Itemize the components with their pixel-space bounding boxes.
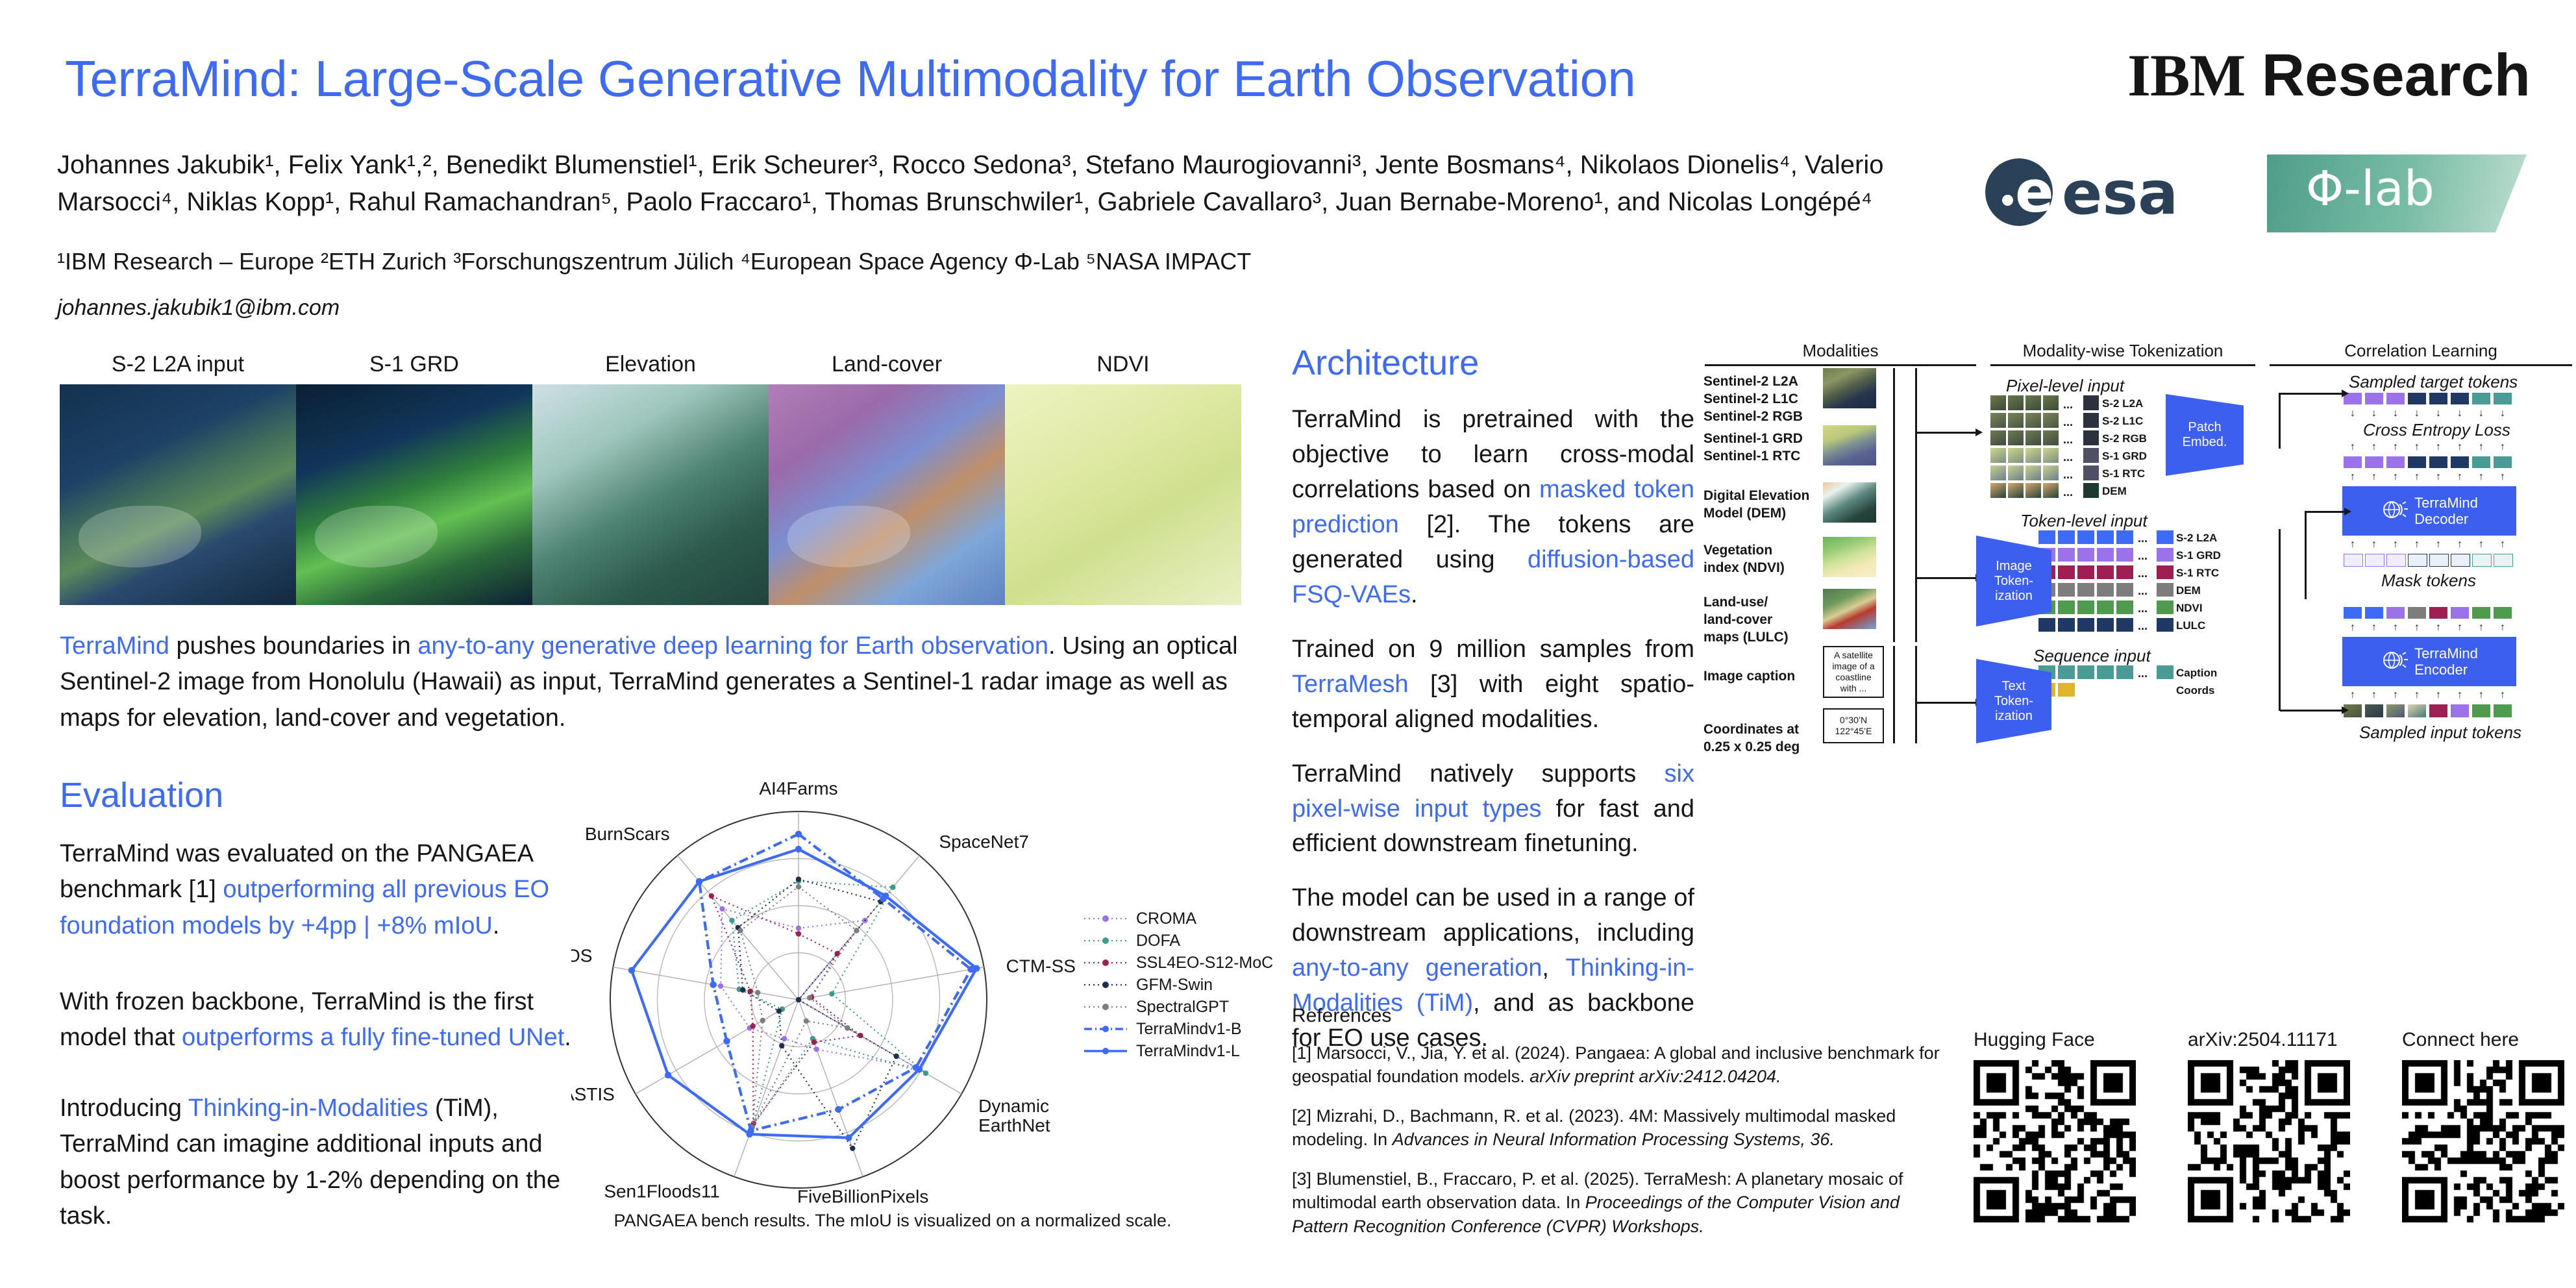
- svg-text:SpectralGPT: SpectralGPT: [1136, 998, 1229, 1016]
- mask-up-arrow-0: ↑: [2350, 539, 2355, 550]
- token-row-label-1: S-1 GRD: [2176, 549, 2221, 562]
- token-cell-1-3: [2097, 548, 2114, 562]
- pixel-patch-3-0: [1990, 448, 2006, 463]
- target-down-arrow-5: ↓: [2457, 408, 2462, 419]
- connector-bar-target: [2279, 393, 2281, 449]
- pixel-patch-final-1: [2083, 413, 2099, 428]
- target-down-arrow-6: ↓: [2479, 408, 2484, 419]
- modality-preview-image-2: [532, 384, 769, 605]
- target-down-arrow-2: ↓: [2393, 408, 2398, 419]
- predicted-token-5: [2451, 456, 2469, 468]
- caption-text-2: pushes boundaries in: [169, 632, 417, 660]
- pixel-patch-final-5: [2083, 483, 2099, 498]
- sampled-target-token-7: [2494, 393, 2512, 404]
- decoder-out-arrow-5: ↑: [2457, 472, 2462, 482]
- pixel-patch-1-1: [2008, 413, 2024, 428]
- arrow-to-image-tokenization: [1916, 577, 1976, 579]
- modality-label-5: Image caption: [1703, 668, 1814, 686]
- sequence-input-label: Sequence input: [2033, 646, 2151, 666]
- arch-p4-accent: any-to-any generation: [1292, 954, 1542, 982]
- predicted-token-0: [2344, 456, 2362, 468]
- modality-preview-image-4: [1005, 384, 1241, 605]
- predicted-token-3: [2408, 456, 2426, 468]
- sampled-input-tokens-label: Sampled input tokens: [2359, 723, 2521, 743]
- diagram-column-rule-2: [2270, 364, 2572, 366]
- radar-svg: AI4FarmsSpaceNet7CTM-SSDynamicEarthNetFi…: [571, 740, 1272, 1259]
- modality-label-0: Sentinel-2 L2A Sentinel-2 L1C Sentinel-2…: [1703, 373, 1814, 426]
- token-row-label-2: S-1 RTC: [2176, 567, 2219, 580]
- pixel-patch-4-3: [2043, 465, 2059, 480]
- ce-up-arrow-1: ↑: [2372, 442, 2377, 452]
- pixel-patch-5-3: [2043, 483, 2059, 498]
- pixel-row-label-1: S-2 L1C: [2102, 415, 2143, 428]
- eval-p3-accent: Thinking-in-Modalities: [188, 1095, 428, 1122]
- mask-up-arrow-5: ↑: [2457, 539, 2462, 550]
- mask-up-arrow-3: ↑: [2414, 539, 2420, 550]
- encoder-out-arrow-2: ↑: [2393, 623, 2398, 633]
- encoder-out-arrow-5: ↑: [2457, 623, 2462, 633]
- decoder-out-arrow-3: ↑: [2414, 472, 2420, 482]
- mask-token-1: [2365, 554, 2384, 567]
- decoder-out-arrow-0: ↑: [2350, 472, 2355, 482]
- branch-bar-seq: [1915, 646, 1917, 743]
- svg-text:MADOS: MADOS: [571, 946, 592, 966]
- qr-canvas: [1974, 1060, 2136, 1222]
- encoder-out-arrow-1: ↑: [2372, 623, 2377, 633]
- pixel-row-ellipsis-2: ...: [2063, 433, 2073, 447]
- sequence-cell-0-4: [2116, 665, 2133, 679]
- ce-up-arrow-4: ↑: [2436, 442, 2441, 452]
- decoder-out-arrow-7: ↑: [2500, 472, 2505, 482]
- ce-up-arrow-3: ↑: [2414, 442, 2420, 452]
- svg-text:SSL4EO-S12-MoCo: SSL4EO-S12-MoCo: [1136, 954, 1272, 972]
- mask-token-2: [2386, 554, 2406, 567]
- pixel-patch-3-1: [2008, 448, 2024, 463]
- arrow-head-icon: [1975, 428, 1983, 436]
- pixel-patch-3-2: [2025, 448, 2041, 463]
- token-row-label-4: NDVI: [2176, 602, 2203, 615]
- token-cell-1-2: [2077, 548, 2094, 562]
- svg-text:EarthNet: EarthNet: [978, 1115, 1050, 1135]
- sampled-target-token-2: [2386, 393, 2405, 404]
- pixel-patch-1-3: [2043, 413, 2059, 428]
- mask-tokens-label: Mask tokens: [2381, 571, 2476, 591]
- strip-label-3: Land-cover: [769, 352, 1005, 377]
- ref2-italic: Advances in Neural Information Processin…: [1393, 1130, 1835, 1149]
- encoder-output-token-6: [2472, 607, 2490, 619]
- preview-detail: [787, 506, 910, 567]
- encoder-in-arrow-5: ↑: [2457, 690, 2462, 700]
- pixel-patch-3-3: [2043, 448, 2059, 463]
- author-line-1: Johannes Jakubik¹, Felix Yank¹,², Benedi…: [57, 147, 1920, 184]
- architecture-diagram: ModalitiesModality-wise TokenizationCorr…: [1701, 341, 2576, 867]
- arch-p2-a: Trained on 9 million samples from: [1292, 636, 1694, 663]
- reference-item-2: [2] Mizrahi, D., Bachmann, R. et al. (20…: [1292, 1104, 1954, 1152]
- sampled-input-token-7: [2494, 704, 2512, 717]
- page-title: TerraMind: Large-Scale Generative Multim…: [65, 53, 1922, 104]
- token-cell-final-5: [2157, 618, 2173, 632]
- pixel-row-label-0: S-2 L2A: [2102, 397, 2143, 410]
- diagram-column-header-2: Correlation Learning: [2266, 341, 2576, 361]
- modality-thumbnail-0: [1823, 368, 1876, 408]
- qr-code-row: Hugging FacearXiv:2504.11171Connect here: [1974, 1029, 2576, 1250]
- modality-preview-image-1: [296, 384, 532, 605]
- svg-text:FiveBillionPixels: FiveBillionPixels: [797, 1187, 928, 1207]
- modality-thumbnail-3: [1823, 537, 1876, 577]
- architecture-body: TerraMind is pretrained with the objecti…: [1292, 402, 1694, 1076]
- sampled-target-token-4: [2429, 393, 2447, 404]
- token-cell-3-1: [2058, 583, 2075, 597]
- pixel-patch-2-1: [2008, 430, 2024, 445]
- caption-accent-1: TerraMind: [60, 632, 169, 660]
- modality-label-6: Coordinates at 0.25 x 0.25 deg: [1703, 721, 1818, 756]
- encoder-in-arrow-7: ↑: [2500, 690, 2505, 700]
- token-cell-2-2: [2077, 565, 2094, 579]
- token-row-ellipsis-3: ...: [2138, 584, 2148, 598]
- token-cell-3-4: [2116, 583, 2133, 597]
- ibm-wordmark: IBM: [2127, 42, 2245, 108]
- arrow-to-pixel-level: [1916, 432, 1976, 434]
- esa-e-letter: e: [2015, 166, 2054, 219]
- sampled-input-token-6: [2472, 704, 2490, 717]
- preview-detail: [79, 506, 201, 567]
- encoder-out-arrow-7: ↑: [2500, 623, 2505, 633]
- arrow-to-text-tokenization: [1916, 702, 1976, 704]
- encoder-output-token-0: [2344, 607, 2362, 619]
- eval-p2-accent: outperforms a fully fine-tuned UNet: [182, 1024, 564, 1051]
- arch-paragraph-3: TerraMind natively supports six pixel-wi…: [1292, 757, 1694, 862]
- token-cell-5-0: [2038, 618, 2055, 632]
- evaluation-paragraph-1: TerraMind was evaluated on the PANGAEA b…: [60, 836, 573, 944]
- diagram-column-rule-0: [1705, 364, 1976, 366]
- pixel-patch-final-4: [2083, 465, 2099, 480]
- arrow-head-icon: [2342, 706, 2349, 714]
- encoder-in-arrow-1: ↑: [2372, 690, 2377, 700]
- pixel-patch-0-2: [2025, 395, 2041, 410]
- branch-bar-pixel: [1915, 368, 1917, 517]
- predicted-token-1: [2365, 456, 2383, 468]
- svg-text:GFM-Swin: GFM-Swin: [1136, 976, 1213, 994]
- svg-text:DOFA: DOFA: [1136, 932, 1180, 950]
- architecture-heading: Architecture: [1292, 343, 1479, 383]
- mask-token-7: [2494, 554, 2513, 567]
- philab-wordmark: Φ-lab: [2306, 165, 2434, 213]
- radar-chart-caption: PANGAEA bench results. The mIoU is visua…: [584, 1211, 1201, 1231]
- diagram-column-header-1: Modality-wise Tokenization: [1987, 341, 2259, 361]
- ce-up-arrow-7: ↑: [2500, 442, 2505, 452]
- svg-text:CROMA: CROMA: [1136, 910, 1196, 928]
- predicted-token-4: [2429, 456, 2447, 468]
- qr-label-0: Hugging Face: [1974, 1029, 2095, 1051]
- token-row-ellipsis-1: ...: [2138, 549, 2148, 563]
- pixel-row-label-5: DEM: [2102, 485, 2127, 498]
- diagram-column-header-0: Modalities: [1701, 341, 1980, 361]
- terramind-encoder-block[interactable]: TerraMindEncoder: [2342, 637, 2516, 686]
- pixel-patch-2-2: [2025, 430, 2041, 445]
- intro-caption: TerraMind pushes boundaries in any-to-an…: [60, 628, 1267, 736]
- modality-preview-image-0: [60, 384, 296, 605]
- brain-globe-icon: [2381, 496, 2408, 526]
- modality-group-bar-image: [1893, 368, 1895, 642]
- coordinates-box: 0°30’N 122°45’E: [1823, 708, 1884, 743]
- sampled-input-token-4: [2429, 704, 2447, 717]
- encoder-out-arrow-6: ↑: [2479, 623, 2484, 633]
- qr-code-2[interactable]: [2402, 1060, 2564, 1222]
- target-down-arrow-4: ↓: [2436, 408, 2441, 419]
- svg-text:TerraMindv1-L: TerraMindv1-L: [1136, 1042, 1240, 1060]
- sequence-row-ellipsis: ...: [2138, 667, 2148, 680]
- mask-token-3: [2408, 554, 2427, 567]
- pixel-row-label-2: S-2 RGB: [2102, 432, 2147, 445]
- affiliations: ¹IBM Research – Europe ²ETH Zurich ³Fors…: [57, 247, 1920, 277]
- references-heading: References: [1292, 1005, 1954, 1027]
- pixel-row-ellipsis-5: ...: [2063, 486, 2073, 499]
- pixel-patch-0-0: [1990, 395, 2006, 410]
- mask-up-arrow-4: ↑: [2436, 539, 2441, 550]
- encoder-in-arrow-6: ↑: [2479, 690, 2484, 700]
- evaluation-heading: Evaluation: [60, 775, 223, 815]
- pixel-patch-final-3: [2083, 448, 2099, 463]
- token-cell-5-2: [2077, 618, 2094, 632]
- pixel-patch-1-0: [1990, 413, 2006, 428]
- cross-entropy-loss-label: Cross Entropy Loss: [2363, 420, 2510, 440]
- sequence-row-label-0: Caption: [2176, 667, 2217, 680]
- svg-text:SpaceNet7: SpaceNet7: [939, 832, 1029, 852]
- token-cell-2-4: [2116, 565, 2133, 579]
- encoder-label: TerraMindEncoder: [2414, 645, 2478, 678]
- patch-embed-block: Patch Embed.: [2166, 394, 2244, 476]
- pixel-patch-2-0: [1990, 430, 2006, 445]
- target-down-arrow-0: ↓: [2350, 408, 2355, 419]
- pixel-patch-4-2: [2025, 465, 2041, 480]
- text-tokenization-block: Text Token- ization: [1976, 659, 2051, 743]
- encoder-in-arrow-2: ↑: [2393, 690, 2398, 700]
- modality-thumbnail-1: [1823, 425, 1876, 465]
- reference-item-3: [3] Blumenstiel, B., Fraccaro, P. et al.…: [1292, 1167, 1954, 1238]
- philab-logo: Φ-lab: [2267, 155, 2527, 232]
- sequence-cell-1-1: [2058, 683, 2075, 697]
- token-cell-4-2: [2077, 601, 2094, 614]
- connector-bar-input: [2279, 529, 2281, 711]
- encoder-output-token-7: [2494, 607, 2512, 619]
- pixel-patch-5-2: [2025, 483, 2041, 498]
- modality-label-3: Vegetation index (NDVI): [1703, 542, 1814, 577]
- encoder-output-token-5: [2451, 607, 2469, 619]
- reference-item-1: [1] Marsocci, V., Jia, Y. et al. (2024).…: [1292, 1041, 1954, 1089]
- token-row-ellipsis-4: ...: [2138, 602, 2148, 615]
- caption-accent-3: any-to-any generative deep learning for …: [417, 632, 1048, 660]
- ibm-research-logo: IBM Research: [2127, 45, 2531, 105]
- sequence-row-label-1: Coords: [2176, 684, 2215, 697]
- research-wordmark: Research: [2262, 42, 2531, 108]
- svg-text:Dynamic: Dynamic: [978, 1096, 1049, 1116]
- token-cell-1-1: [2058, 548, 2075, 562]
- token-row-ellipsis-5: ...: [2138, 619, 2148, 633]
- mask-token-6: [2472, 554, 2492, 567]
- evaluation-paragraph-2: With frozen backbone, TerraMind is the f…: [60, 984, 573, 1056]
- svg-text:PASTIS: PASTIS: [571, 1084, 615, 1104]
- eval-p3-text-a: Introducing: [60, 1095, 188, 1122]
- token-cell-4-3: [2097, 601, 2114, 614]
- sampled-input-token-1: [2365, 704, 2383, 717]
- ref1-italic: arXiv preprint arXiv:2412.04204.: [1529, 1067, 1781, 1086]
- image-caption-box: A satellite image of a coastline with ..…: [1823, 646, 1884, 698]
- pixel-row-label-3: S-1 GRD: [2102, 450, 2147, 463]
- pangaea-radar-chart: AI4FarmsSpaceNet7CTM-SSDynamicEarthNetFi…: [571, 740, 1272, 1259]
- predicted-token-7: [2494, 456, 2512, 468]
- eval-p2-text-b: .: [564, 1024, 571, 1051]
- image-tokenization-block: Image Token- ization: [1976, 536, 2051, 626]
- token-cell-2-1: [2058, 565, 2075, 579]
- arrow-to-sampled-input: [2280, 710, 2342, 712]
- modality-label-2: Digital Elevation Model (DEM): [1703, 488, 1814, 523]
- arrow-head-icon: [2342, 390, 2349, 397]
- esa-dot-shape: [2002, 195, 2013, 206]
- token-cell-5-4: [2116, 618, 2133, 632]
- modality-label-4: Land-use/ land-cover maps (LULC): [1703, 594, 1814, 647]
- token-cell-0-1: [2058, 530, 2075, 544]
- encoder-output-token-1: [2365, 607, 2383, 619]
- modality-thumbnail-2: [1823, 482, 1876, 523]
- token-cell-2-3: [2097, 565, 2114, 579]
- decoder-out-arrow-2: ↑: [2393, 472, 2398, 482]
- mask-token-5: [2451, 554, 2470, 567]
- svg-text:TerraMindv1-B: TerraMindv1-B: [1136, 1020, 1242, 1038]
- mask-token-4: [2429, 554, 2449, 567]
- mask-up-arrow-2: ↑: [2393, 539, 2398, 550]
- pixel-patch-5-0: [1990, 483, 2006, 498]
- qr-canvas: [2402, 1060, 2564, 1222]
- token-cell-0-3: [2097, 530, 2114, 544]
- esa-wordmark: esa: [2062, 164, 2178, 223]
- pixel-row-ellipsis-0: ...: [2063, 398, 2073, 412]
- encoder-out-arrow-3: ↑: [2414, 623, 2420, 633]
- encoder-in-arrow-4: ↑: [2436, 690, 2441, 700]
- decoder-out-arrow-6: ↑: [2479, 472, 2484, 482]
- token-level-input-label: Token-level input: [2020, 511, 2148, 531]
- sampled-target-token-1: [2365, 393, 2383, 404]
- mask-up-arrow-1: ↑: [2372, 539, 2377, 550]
- mask-token-0: [2344, 554, 2363, 567]
- mask-up-arrow-7: ↑: [2500, 539, 2505, 550]
- pixel-patch-2-3: [2043, 430, 2059, 445]
- encoder-in-arrow-0: ↑: [2350, 690, 2355, 700]
- arch-p4-a: The model can be used in a range of down…: [1292, 884, 1694, 947]
- token-cell-final-1: [2157, 548, 2173, 562]
- svg-text:AI4Farms: AI4Farms: [759, 778, 837, 799]
- strip-label-2: Elevation: [532, 352, 769, 377]
- encoder-output-token-4: [2429, 607, 2447, 619]
- sampled-target-token-6: [2472, 393, 2490, 404]
- sampled-input-token-5: [2451, 704, 2469, 717]
- author-list: Johannes Jakubik¹, Felix Yank¹,², Benedi…: [57, 147, 1920, 221]
- encoder-output-token-2: [2386, 607, 2405, 619]
- modality-label-1: Sentinel-1 GRD Sentinel-1 RTC: [1703, 430, 1814, 465]
- terramind-decoder-block[interactable]: TerraMindDecoder: [2342, 486, 2516, 536]
- pixel-patch-1-2: [2025, 413, 2041, 428]
- target-down-arrow-1: ↓: [2372, 408, 2377, 419]
- ce-up-arrow-0: ↑: [2350, 442, 2355, 452]
- token-cell-3-3: [2097, 583, 2114, 597]
- eval-p1-text-b: .: [493, 912, 500, 939]
- token-row-ellipsis-0: ...: [2138, 532, 2148, 545]
- arch-paragraph-1: TerraMind is pretrained with the objecti…: [1292, 402, 1694, 613]
- pixel-patch-0-3: [2043, 395, 2059, 410]
- token-cell-0-0: [2038, 530, 2055, 544]
- qr-code-1[interactable]: [2188, 1060, 2350, 1222]
- encoder-out-arrow-4: ↑: [2436, 623, 2441, 633]
- target-down-arrow-7: ↓: [2500, 408, 2505, 419]
- ce-up-arrow-5: ↑: [2457, 442, 2462, 452]
- arrow-head-icon: [2344, 508, 2351, 515]
- qr-label-2: Connect here: [2402, 1029, 2519, 1051]
- arch-p2-accent: TerraMesh: [1292, 671, 1409, 698]
- token-cell-5-3: [2097, 618, 2114, 632]
- branch-bar-token: [1915, 517, 1917, 642]
- token-row-ellipsis-2: ...: [2138, 567, 2148, 580]
- arch-paragraph-2: Trained on 9 million samples from TerraM…: [1292, 632, 1694, 737]
- sequence-cell-0-1: [2058, 665, 2075, 679]
- arch-p3-a: TerraMind natively supports: [1292, 760, 1665, 787]
- token-row-label-3: DEM: [2176, 584, 2201, 597]
- sampled-target-tokens-label: Sampled target tokens: [2349, 372, 2518, 392]
- modality-group-bar-text: [1893, 646, 1895, 743]
- token-cell-final-2: [2157, 565, 2173, 579]
- token-cell-5-1: [2058, 618, 2075, 632]
- references-block: References [1] Marsocci, V., Jia, Y. et …: [1292, 1005, 1954, 1254]
- author-line-2: Marsocci⁴, Niklas Kopp¹, Rahul Ramachand…: [57, 184, 1920, 221]
- esa-logo: e esa: [1985, 156, 2238, 230]
- pixel-patch-0-1: [2008, 395, 2024, 410]
- qr-code-0[interactable]: [1974, 1060, 2136, 1222]
- modality-preview-image-3: [769, 384, 1005, 605]
- strip-label-1: S-1 GRD: [296, 352, 532, 377]
- modality-thumbnail-4: [1823, 589, 1876, 629]
- sequence-cell-final: [2157, 665, 2173, 679]
- token-cell-3-2: [2077, 583, 2094, 597]
- token-cell-0-4: [2116, 530, 2133, 544]
- contact-email: johannes.jakubik1@ibm.com: [57, 295, 340, 321]
- mask-up-arrow-6: ↑: [2479, 539, 2484, 550]
- pixel-patch-4-1: [2008, 465, 2024, 480]
- token-cell-final-3: [2157, 583, 2173, 597]
- pixel-row-label-4: S-1 RTC: [2102, 467, 2145, 480]
- sampled-input-token-2: [2386, 704, 2405, 717]
- pixel-patch-5-1: [2008, 483, 2024, 498]
- pixel-row-ellipsis-3: ...: [2063, 451, 2073, 464]
- arch-p4-b: ,: [1542, 954, 1565, 982]
- token-cell-4-1: [2058, 601, 2075, 614]
- sampled-target-token-5: [2451, 393, 2469, 404]
- predicted-token-6: [2472, 456, 2490, 468]
- decoder-label: TerraMindDecoder: [2414, 495, 2478, 528]
- preview-detail: [315, 506, 438, 567]
- predicted-token-2: [2386, 456, 2405, 468]
- pixel-patch-final-0: [2083, 395, 2099, 410]
- pixel-patch-final-2: [2083, 430, 2099, 445]
- arch-p1-c: .: [1411, 581, 1418, 608]
- qr-canvas: [2188, 1060, 2350, 1222]
- svg-text:Sen1Floods11: Sen1Floods11: [604, 1182, 720, 1202]
- arrow-to-decoder: [2306, 511, 2345, 513]
- diagram-column-rule-1: [1990, 364, 2255, 366]
- target-down-arrow-3: ↓: [2414, 408, 2420, 419]
- encoder-output-token-3: [2408, 607, 2426, 619]
- token-cell-0-2: [2077, 530, 2094, 544]
- strip-label-0: S-2 L2A input: [60, 352, 296, 377]
- sequence-cell-0-3: [2097, 665, 2114, 679]
- arrow-to-sampled-target: [2280, 393, 2342, 395]
